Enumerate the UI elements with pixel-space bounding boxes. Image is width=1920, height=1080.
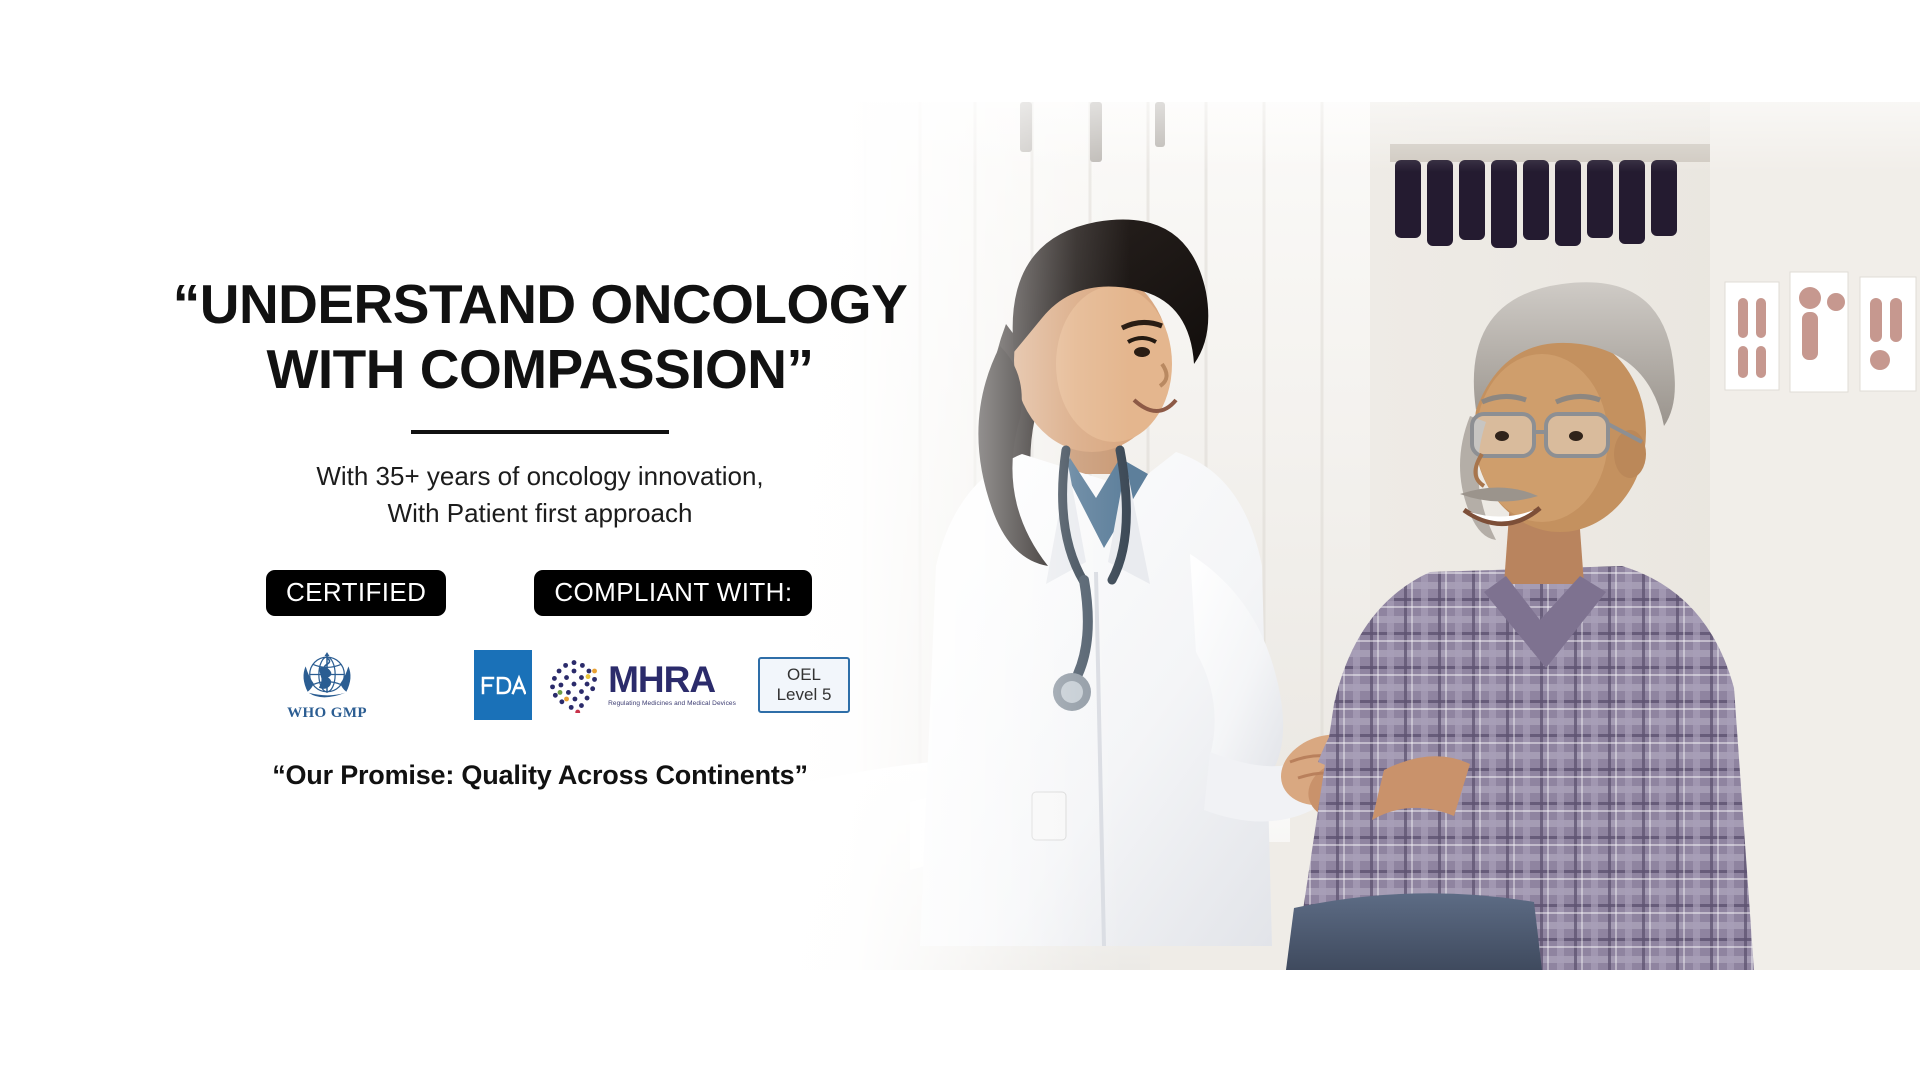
mhra-tagline: Regulating Medicines and Medical Devices (608, 700, 736, 707)
page-title: “UNDERSTAND ONCOLOGY WITH COMPASSION” (130, 272, 950, 402)
title-divider (411, 430, 669, 434)
certification-logo-row: WHO GMP (230, 644, 850, 726)
mhra-wordmark: MHRA (608, 662, 715, 697)
hero-content: “UNDERSTAND ONCOLOGY WITH COMPASSION” Wi… (0, 0, 1080, 1080)
oel-level-badge: OEL Level 5 (758, 657, 850, 713)
badge-label-row: CERTIFIED COMPLIANT WITH: (230, 570, 850, 616)
who-gmp-label: WHO GMP (287, 705, 367, 722)
subtitle-line-1: With 35+ years of oncology innovation, (316, 458, 763, 495)
compliance-logos: MHRA Regulating Medicines and Medical De… (474, 650, 850, 720)
subtitle-line-2: With Patient first approach (316, 495, 763, 532)
oel-badge-line-2: Level 5 (777, 685, 832, 705)
promise-tagline: “Our Promise: Quality Across Continents” (272, 760, 808, 791)
headline-line-1: “UNDERSTAND ONCOLOGY (130, 272, 950, 337)
mhra-text-block: MHRA Regulating Medicines and Medical De… (608, 662, 736, 707)
mhra-logo: MHRA Regulating Medicines and Medical De… (546, 657, 736, 713)
who-gmp-logo: WHO GMP (260, 648, 394, 722)
fda-wordmark-icon (480, 672, 526, 698)
who-emblem-icon (296, 648, 358, 704)
hero-subtitle: With 35+ years of oncology innovation, W… (316, 458, 763, 532)
compliant-badge-label: COMPLIANT WITH: (534, 570, 812, 616)
fda-logo (474, 650, 532, 720)
certified-badge-label: CERTIFIED (266, 570, 446, 616)
mhra-dot-cluster-icon (546, 657, 602, 713)
oel-badge-line-1: OEL (787, 665, 821, 685)
headline-line-2: WITH COMPASSION” (130, 337, 950, 402)
